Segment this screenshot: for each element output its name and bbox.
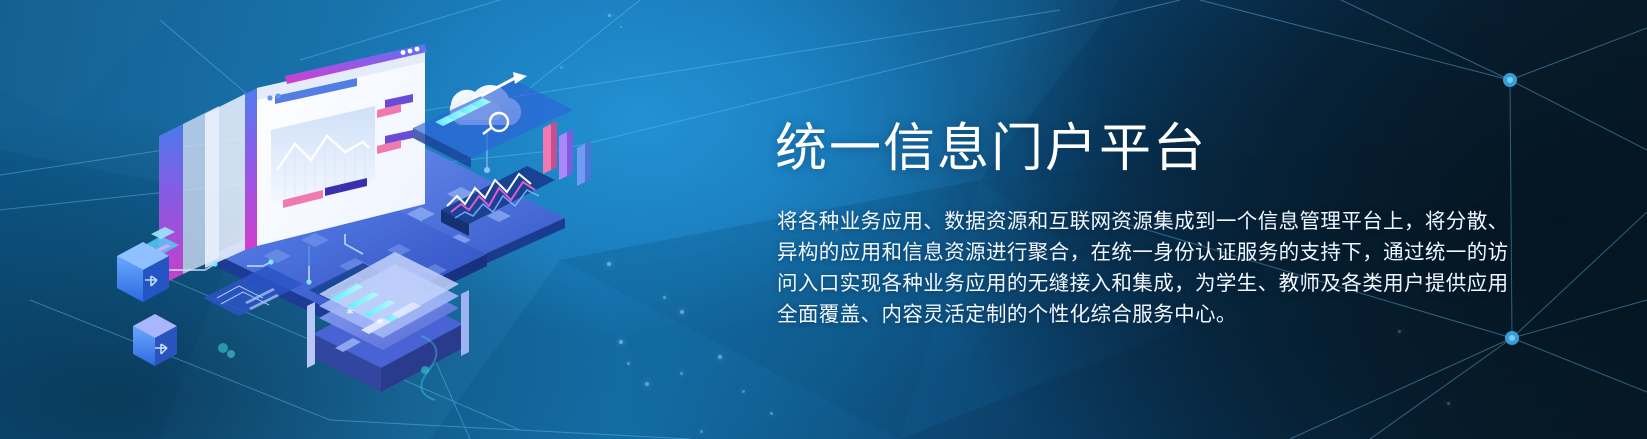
page-title: 统一信息门户平台	[775, 121, 1207, 178]
description-line: 问入口实现各种业务应用的无缝接入和集成，为学生、教师及各类用户提供应用	[777, 268, 1477, 299]
description-line: 异构的应用和信息资源进行聚合，在统一身份认证服务的支持下，通过统一的访	[777, 237, 1477, 268]
isometric-illustration	[95, 18, 615, 418]
description-line: 全面覆盖、内容灵活定制的个性化综合服务中心。	[777, 299, 1477, 330]
floating-cube-bottom	[133, 314, 177, 366]
description-line: 将各种业务应用、数据资源和互联网资源集成到一个信息管理平台上，将分散、	[777, 206, 1477, 237]
text-content: 统一信息门户平台 将各种业务应用、数据资源和互联网资源集成到一个信息管理平台上，…	[775, 0, 1535, 439]
description-paragraph: 将各种业务应用、数据资源和互联网资源集成到一个信息管理平台上，将分散、 异构的应…	[777, 206, 1477, 330]
bar-chart-panel	[543, 121, 591, 186]
hero-banner: 统一信息门户平台 将各种业务应用、数据资源和互联网资源集成到一个信息管理平台上，…	[0, 0, 1647, 439]
